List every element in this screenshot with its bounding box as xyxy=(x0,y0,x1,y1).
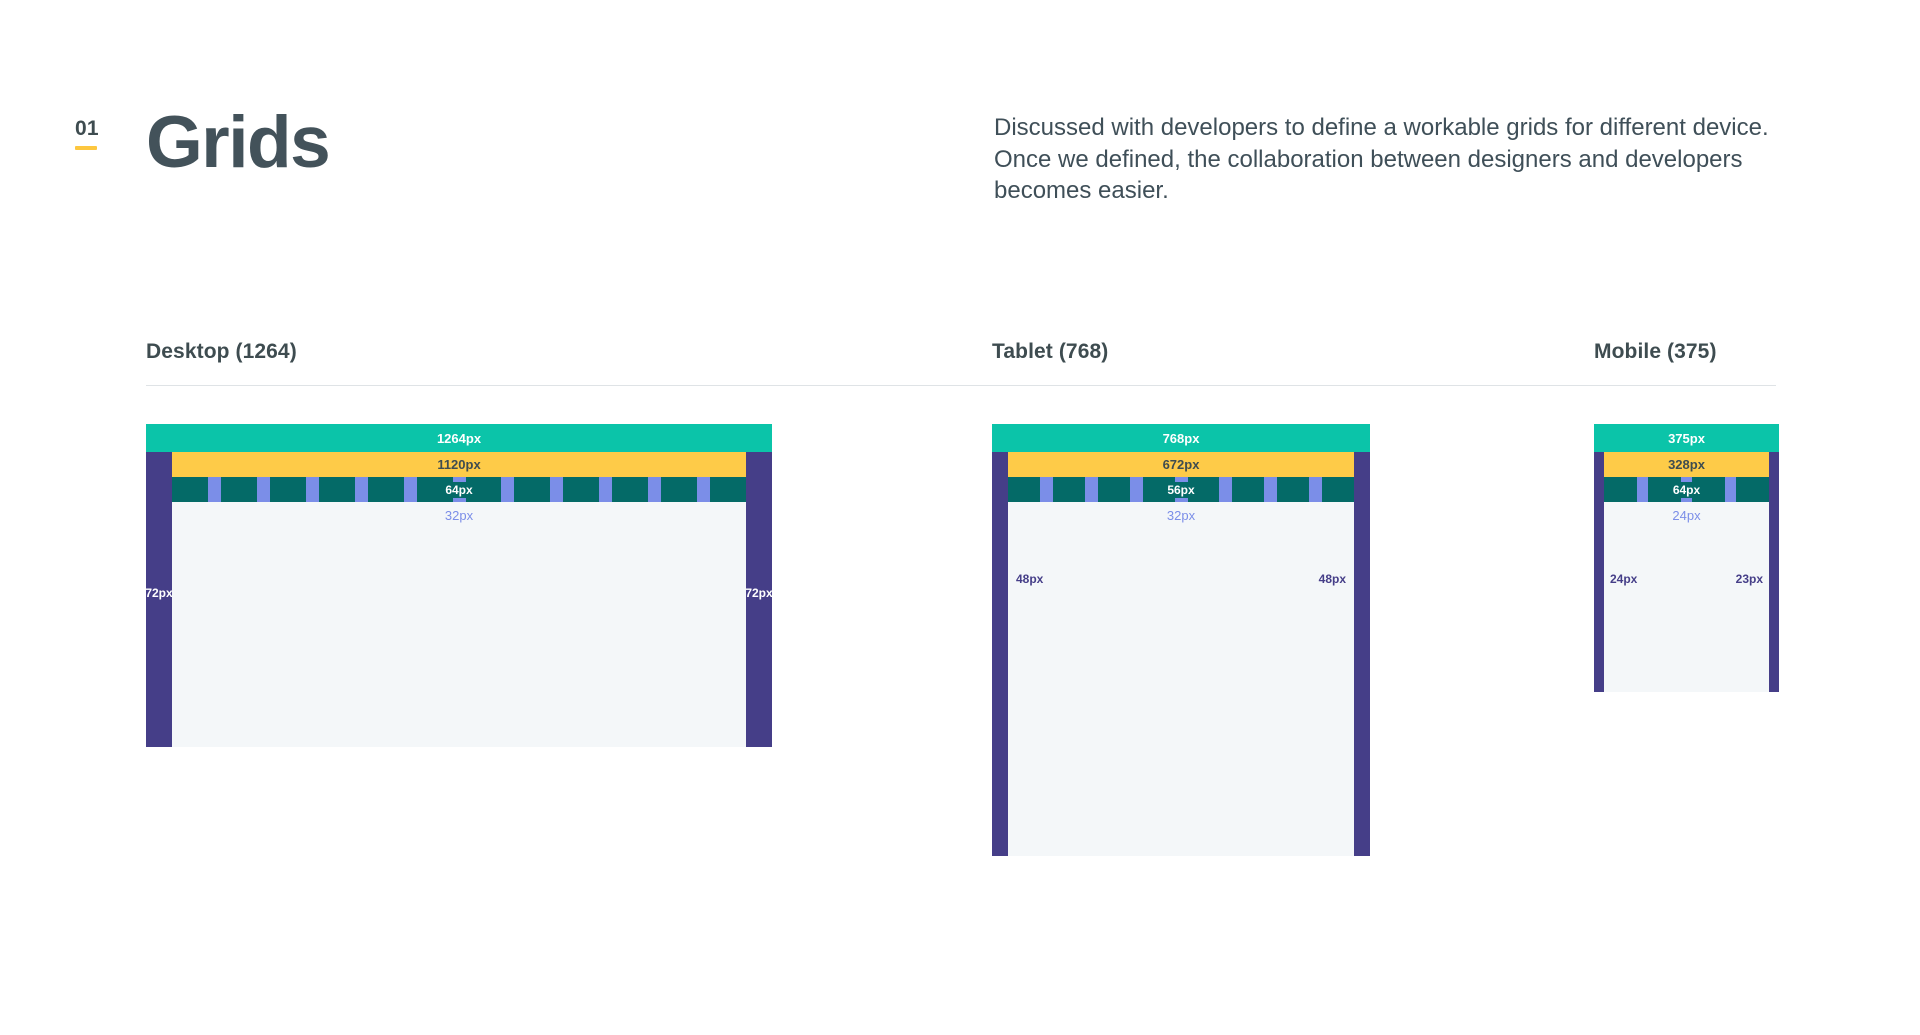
content-width-band-mobile: 328px xyxy=(1604,452,1769,477)
grid-gutter xyxy=(1219,477,1232,502)
margin-left-label: 72px xyxy=(145,586,172,600)
content-width-band-tablet: 672px xyxy=(1008,452,1354,477)
column-width-label: 64px xyxy=(1670,482,1703,498)
grid-column xyxy=(368,477,404,502)
margin-right-mobile xyxy=(1769,452,1779,692)
content-column-tablet: 672px 56px 32px 48px 48px xyxy=(1008,452,1354,856)
content-width-band-desktop: 1120px xyxy=(172,452,746,477)
total-width-label: 375px xyxy=(1668,431,1705,446)
total-width-band-tablet: 768px xyxy=(992,424,1370,452)
total-width-label: 768px xyxy=(1163,431,1200,446)
grid-diagram-tablet: 768px 672px 56px 32px 48px 48px xyxy=(992,424,1370,856)
grid-gutter xyxy=(306,477,319,502)
column-width-label: 56px xyxy=(1164,482,1197,498)
content-canvas-desktop: 32px xyxy=(172,502,746,747)
grid-gutter xyxy=(501,477,514,502)
intro-paragraph: Discussed with developers to define a wo… xyxy=(994,112,1784,207)
grid-column xyxy=(1008,477,1040,502)
frame-tablet: 672px 56px 32px 48px 48px xyxy=(992,452,1370,856)
grid-column xyxy=(1277,477,1309,502)
total-width-band-mobile: 375px xyxy=(1594,424,1779,452)
margin-left-mobile xyxy=(1594,452,1604,692)
page-title: Grids xyxy=(146,105,329,182)
step-number: 01 xyxy=(75,118,135,139)
grid-gutter xyxy=(550,477,563,502)
heading-divider xyxy=(146,385,1776,386)
grid-column xyxy=(563,477,599,502)
slide-header: 01 Grids Discussed with developers to de… xyxy=(0,0,1920,300)
margin-left-desktop: 72px xyxy=(146,452,172,747)
grid-gutter xyxy=(1040,477,1053,502)
grid-diagram-mobile: 375px 328px 64px 24px 24px 23px xyxy=(1594,424,1779,692)
column-width-label: 64px xyxy=(442,482,475,498)
margin-right-desktop: 72px xyxy=(746,452,772,747)
section-heading-tablet: Tablet (768) xyxy=(992,340,1108,364)
section-heading-mobile: Mobile (375) xyxy=(1594,340,1717,364)
margin-right-label: 72px xyxy=(745,586,772,600)
grid-column xyxy=(612,477,648,502)
grid-gutter xyxy=(1309,477,1322,502)
grid-column xyxy=(661,477,697,502)
columns-row-tablet: 56px xyxy=(1008,477,1354,502)
frame-desktop: 72px 1120px 64px 32px 72px xyxy=(146,452,772,747)
section-heading-desktop: Desktop (1264) xyxy=(146,340,297,364)
content-width-label: 1120px xyxy=(437,457,480,472)
grid-column xyxy=(270,477,306,502)
content-width-label: 328px xyxy=(1668,457,1705,472)
margin-right-label-tablet: 48px xyxy=(1319,572,1346,586)
columns-row-desktop: 64px xyxy=(172,477,746,502)
grid-gutter xyxy=(1637,477,1648,502)
grid-column xyxy=(1322,477,1354,502)
grid-column xyxy=(221,477,257,502)
grid-column xyxy=(514,477,550,502)
grid-column xyxy=(1736,477,1769,502)
slide-root: 01 Grids Discussed with developers to de… xyxy=(0,0,1920,1035)
grid-gutter xyxy=(648,477,661,502)
margin-right-label-mobile: 23px xyxy=(1736,572,1763,586)
margin-left-tablet xyxy=(992,452,1008,856)
content-column-desktop: 1120px 64px 32px xyxy=(172,452,746,747)
step-marker: 01 xyxy=(75,118,135,150)
accent-rule xyxy=(75,146,97,150)
grid-gutter xyxy=(1130,477,1143,502)
grid-gutter xyxy=(697,477,710,502)
margin-left-label-tablet: 48px xyxy=(1016,572,1043,586)
grid-column xyxy=(1232,477,1264,502)
grid-column xyxy=(1098,477,1130,502)
grid-gutter xyxy=(404,477,417,502)
frame-mobile: 328px 64px 24px 24px 23px xyxy=(1594,452,1779,692)
grid-gutter xyxy=(1725,477,1736,502)
grid-column xyxy=(1053,477,1085,502)
columns-row-mobile: 64px xyxy=(1604,477,1769,502)
total-width-label: 1264px xyxy=(437,431,481,446)
gutter-width-label-desktop: 32px xyxy=(172,502,746,523)
content-canvas-tablet: 32px 48px 48px xyxy=(1008,502,1354,856)
grid-column xyxy=(319,477,355,502)
total-width-band-desktop: 1264px xyxy=(146,424,772,452)
gutter-width-label-tablet: 32px xyxy=(1008,502,1354,523)
grid-gutter xyxy=(1264,477,1277,502)
content-canvas-mobile: 24px 24px 23px xyxy=(1604,502,1769,692)
margin-left-label-mobile: 24px xyxy=(1610,572,1637,586)
grid-gutter xyxy=(1085,477,1098,502)
content-width-label: 672px xyxy=(1163,457,1200,472)
grid-gutter xyxy=(355,477,368,502)
grid-gutter xyxy=(257,477,270,502)
gutter-width-label-mobile: 24px xyxy=(1604,502,1769,523)
grid-diagram-desktop: 1264px 72px 1120px 64px 32px 72px xyxy=(146,424,772,747)
grid-gutter xyxy=(599,477,612,502)
grid-column xyxy=(710,477,746,502)
margin-right-tablet xyxy=(1354,452,1370,856)
grid-column xyxy=(1604,477,1637,502)
grid-column xyxy=(172,477,208,502)
content-column-mobile: 328px 64px 24px 24px 23px xyxy=(1604,452,1769,692)
grid-gutter xyxy=(208,477,221,502)
